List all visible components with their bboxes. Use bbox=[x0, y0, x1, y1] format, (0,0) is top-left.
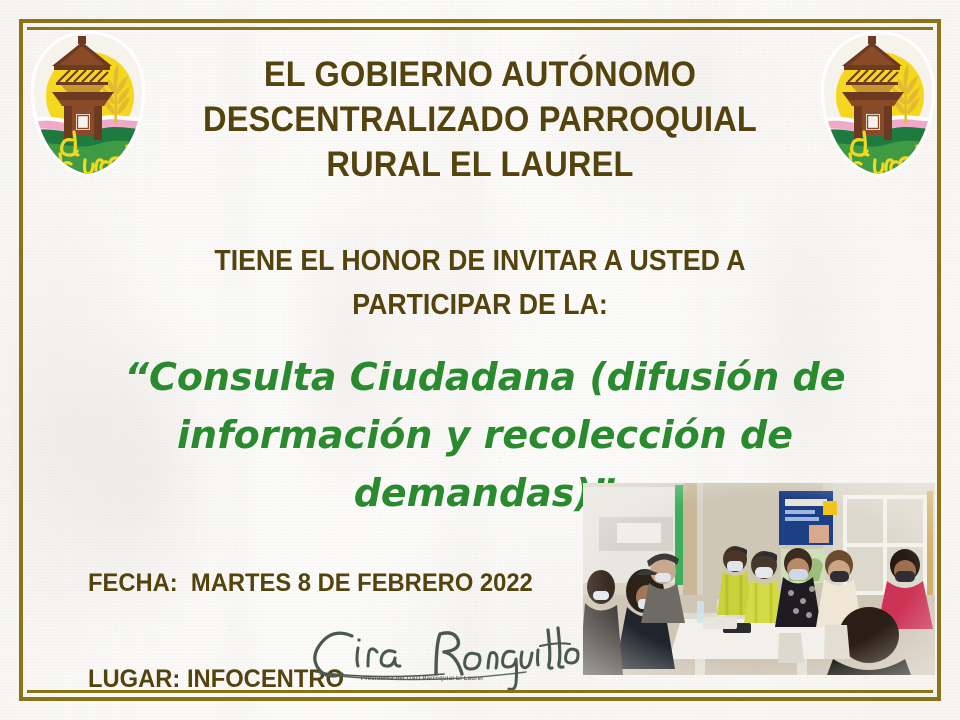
title-line-2: DESCENTRALIZADO PARROQUIAL bbox=[173, 97, 787, 142]
meeting-photo bbox=[583, 483, 935, 675]
logo-el-laurel-left bbox=[28, 28, 148, 178]
invitation-poster: EL GOBIERNO AUTÓNOMO DESCENTRALIZADO PAR… bbox=[0, 0, 960, 720]
title-line-1: EL GOBIERNO AUTÓNOMO bbox=[173, 52, 787, 97]
event-date: FECHA: MARTES 8 DE FEBRERO 2022 bbox=[88, 567, 533, 599]
signature-caption: Presidenta del GAD Parroquial El Laurel bbox=[322, 676, 522, 682]
logo-el-laurel-right bbox=[818, 28, 938, 178]
invitation-line-2: PARTICIPAR DE LA: bbox=[149, 283, 811, 327]
organization-title: EL GOBIERNO AUTÓNOMO DESCENTRALIZADO PAR… bbox=[173, 52, 787, 187]
invitation-line-1: TIENE EL HONOR DE INVITAR A USTED A bbox=[149, 239, 811, 283]
event-name-line-1: “Consulta Ciudadana (difusión de bbox=[40, 348, 930, 406]
title-line-3: RURAL EL LAUREL bbox=[173, 142, 787, 187]
invitation-text: TIENE EL HONOR DE INVITAR A USTED A PART… bbox=[149, 239, 811, 327]
